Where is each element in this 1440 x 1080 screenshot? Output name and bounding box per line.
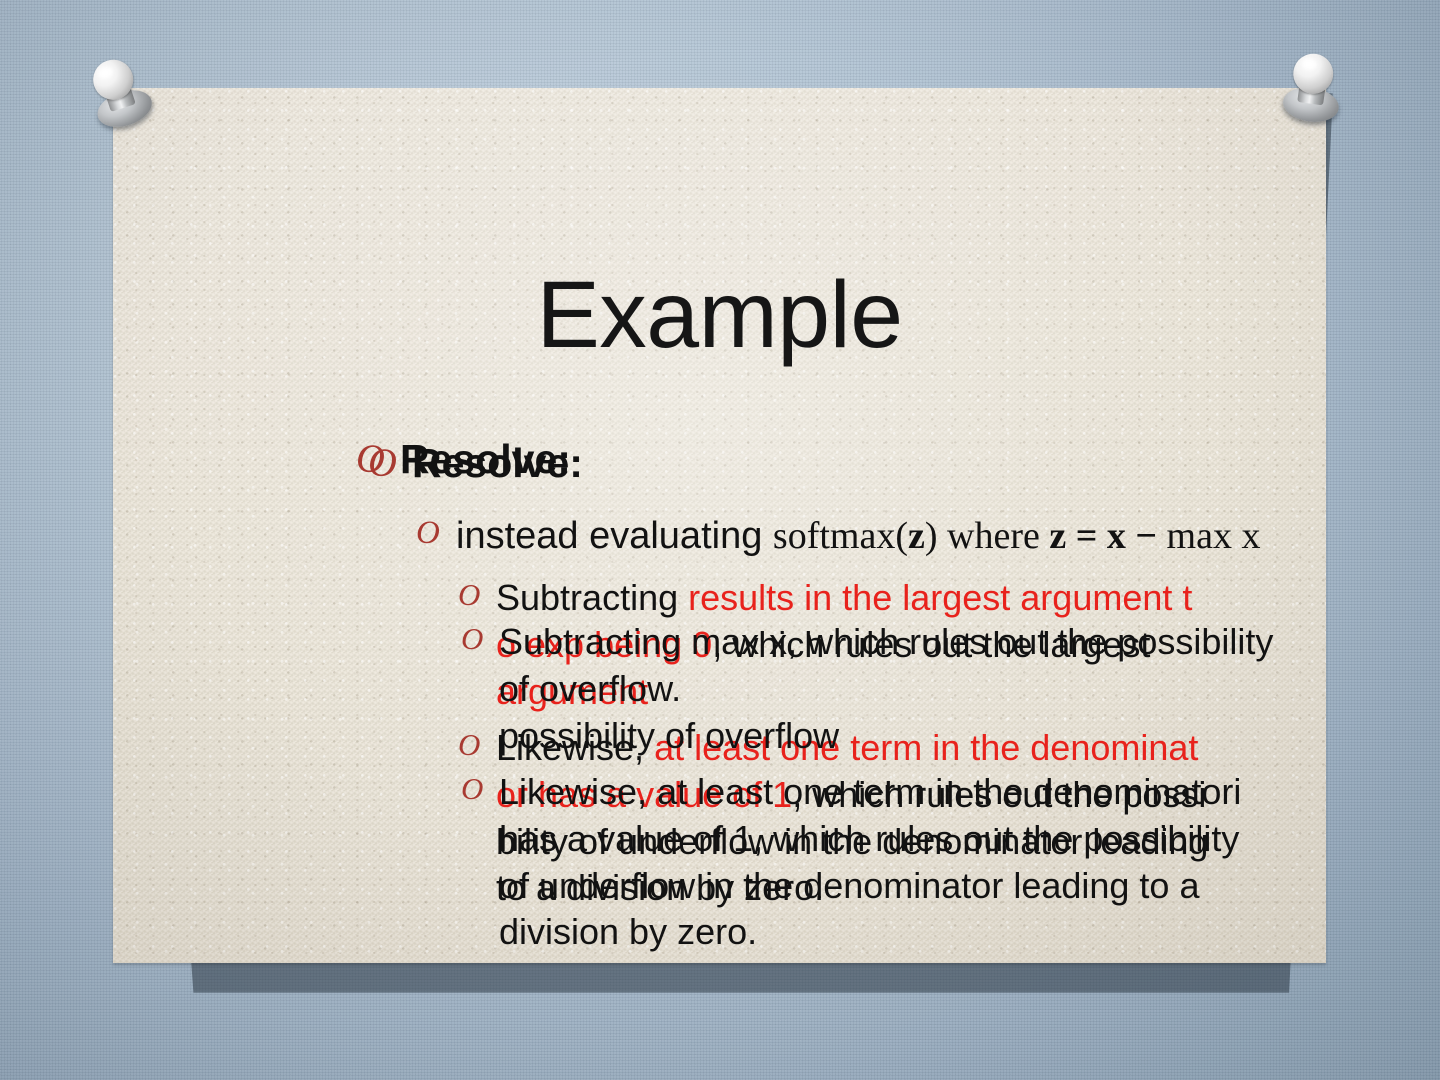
math-minus: −	[1126, 515, 1167, 557]
text-layer-current: O Resolve: O instead evaluating softmax(…	[113, 88, 1326, 963]
b1-line3-current: possibility of overflow	[499, 713, 1321, 760]
math-lead: instead evaluating	[456, 515, 773, 557]
bullet-glyph-icon: O	[416, 512, 456, 555]
b2-line2-current: has a value of 1, which rules out the po…	[499, 816, 1321, 863]
bullet-block-1-current: O Subtracting max x, which rules out the…	[461, 619, 1321, 759]
bullet-block-2-current: O Likewise, at least one term in the den…	[461, 769, 1321, 956]
bullet-block-math: O instead evaluating softmax(z) where z …	[416, 512, 1316, 561]
b1-line1-current: Subtracting max x, which rules out the p…	[499, 619, 1321, 666]
math-fn-arg: z	[908, 515, 925, 557]
math-tail: max x	[1167, 515, 1261, 557]
bullet-glyph-icon: O	[461, 769, 499, 809]
math-var-x: x	[1107, 515, 1126, 557]
push-pin-right-icon	[1276, 50, 1351, 130]
math-fn: softmax(	[773, 515, 908, 557]
b2-line3-current: of underflow in the denominator leading …	[499, 863, 1321, 910]
bullet-glyph-icon: O	[461, 619, 499, 659]
heading-text-current: Resolve:	[412, 441, 1268, 485]
b2-line1-current: Likewise, at least one term in the denom…	[499, 769, 1321, 816]
bullet-glyph-icon: O	[368, 441, 412, 484]
math-fn-close: ) where	[925, 515, 1049, 557]
paper-panel: Example O Resolve: O Subtracting results…	[113, 88, 1326, 963]
b2-line4-current: division by zero.	[499, 909, 1321, 956]
math-var-z: z	[1049, 515, 1066, 557]
b1-line2-current: of overflow.	[499, 666, 1321, 713]
math-eq: =	[1066, 515, 1107, 557]
heading-row-current: O Resolve:	[368, 441, 1268, 485]
